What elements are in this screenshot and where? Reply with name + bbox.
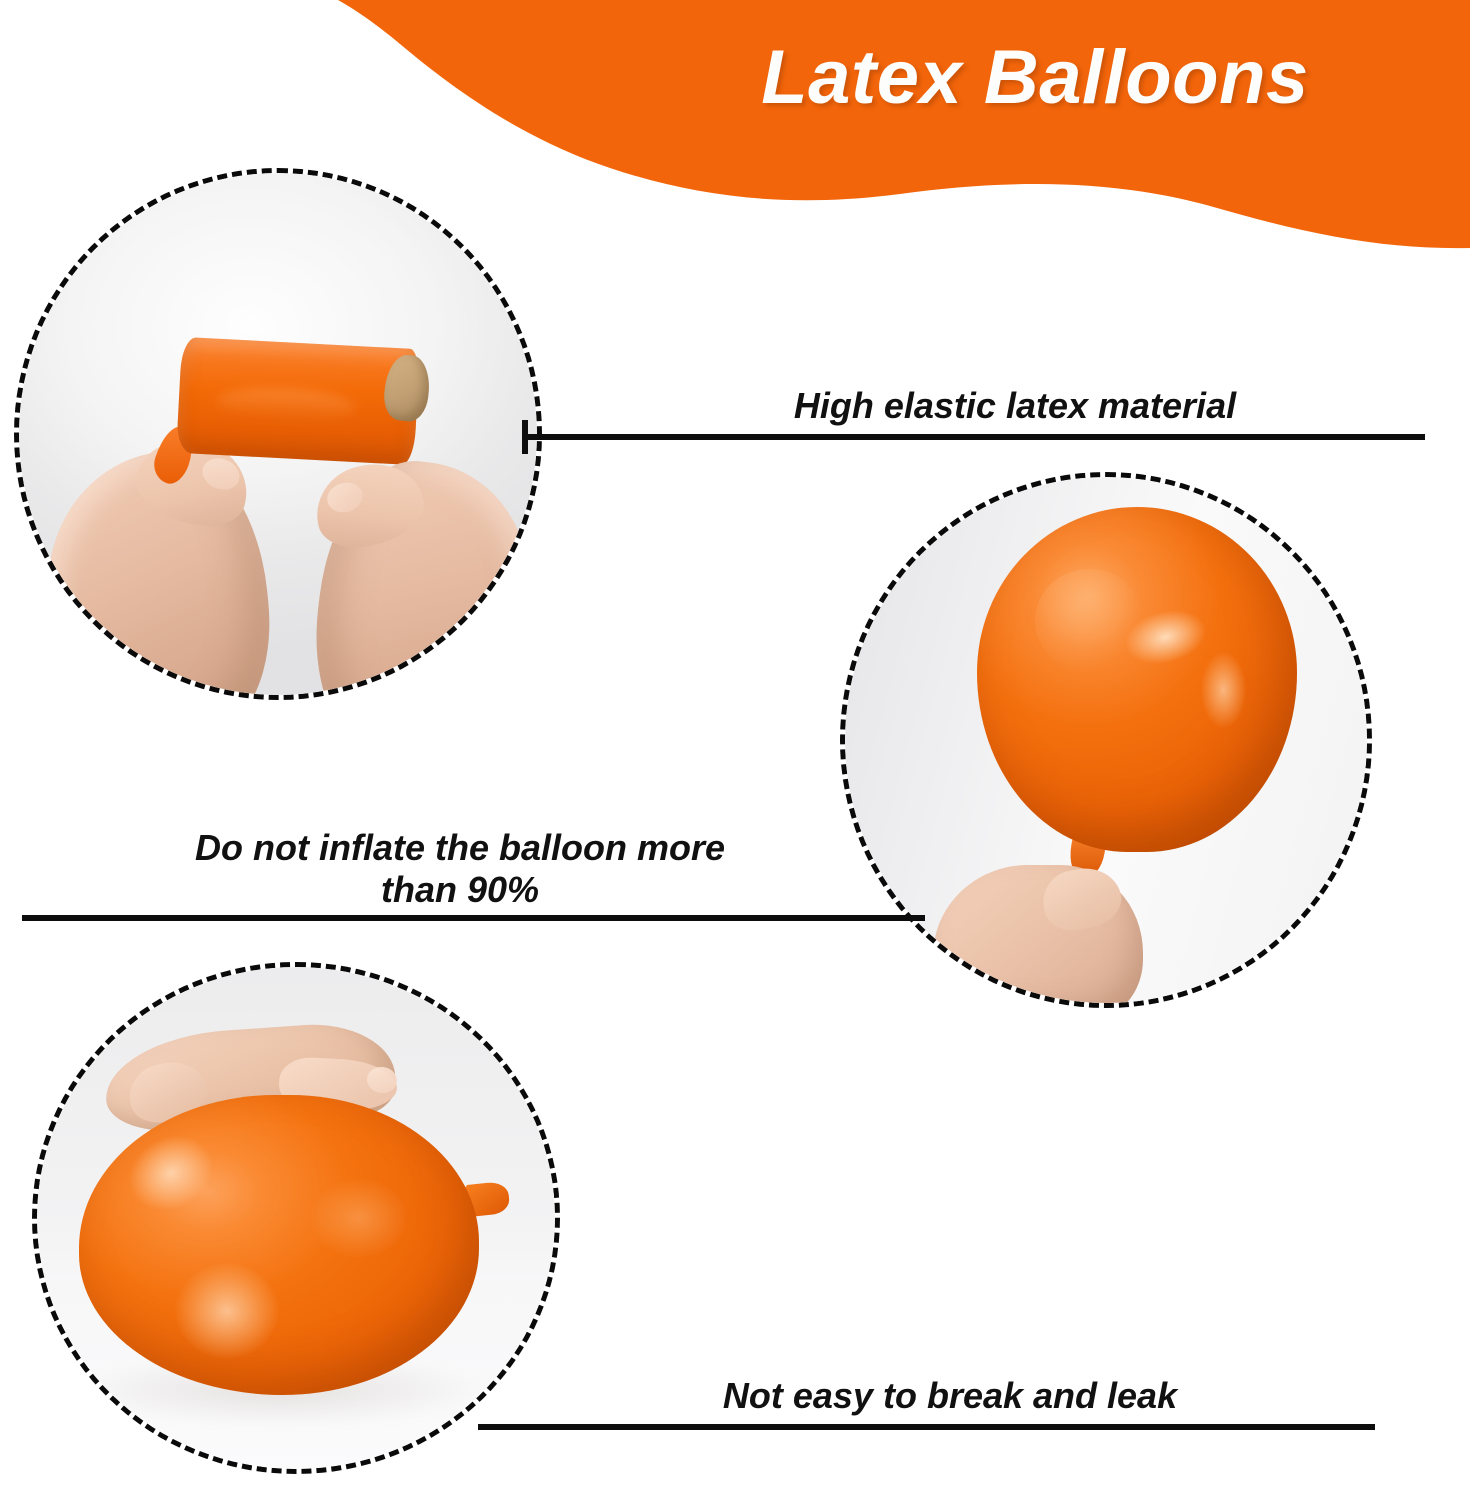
inflated-balloon <box>977 507 1297 852</box>
photo-frame-durable <box>37 967 555 1469</box>
callout-rule-inflate-limit <box>22 915 925 921</box>
feature-photo-elastic <box>14 168 542 700</box>
balloon-highlight-bottom <box>175 1263 279 1359</box>
balloon-highlight-soft <box>1035 569 1144 673</box>
feature-photo-inflate-limit <box>840 472 1372 1008</box>
callout-rule-elastic <box>522 434 1425 440</box>
caption-elastic: High elastic latex material <box>620 385 1410 427</box>
photo-frame-elastic <box>19 173 537 695</box>
infographic-page: Latex Balloons High elastic latex materi… <box>0 0 1470 1500</box>
feature-photo-durable <box>32 962 560 1474</box>
balloon-highlight-edge <box>1201 652 1246 728</box>
balloon-highlight-right <box>311 1179 407 1257</box>
caption-inflate-limit: Do not inflate the balloon more than 90% <box>40 827 880 912</box>
squashed-balloon <box>79 1095 479 1395</box>
page-title: Latex Balloons <box>640 34 1430 121</box>
stretched-balloon <box>176 337 420 465</box>
callout-rule-durable <box>478 1424 1375 1430</box>
photo-frame-inflate-limit <box>845 477 1367 1003</box>
caption-durable: Not easy to break and leak <box>520 1375 1380 1417</box>
